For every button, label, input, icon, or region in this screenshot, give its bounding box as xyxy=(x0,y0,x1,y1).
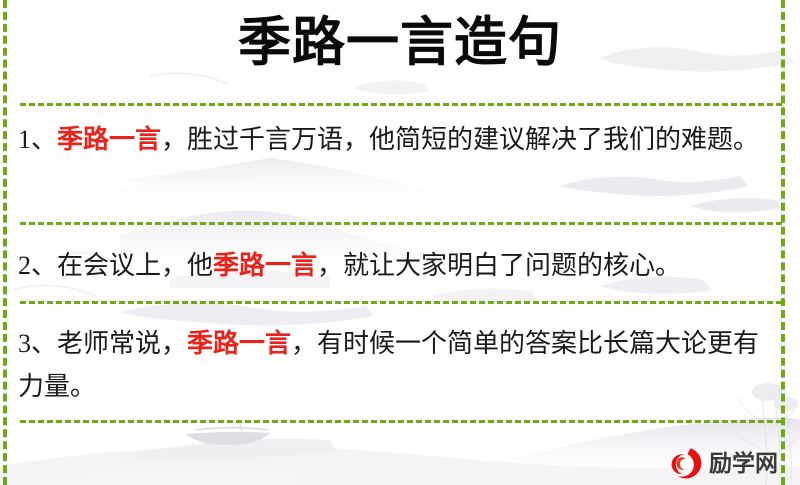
sentence-1-highlight: 季路一言 xyxy=(57,125,161,154)
divider-1 xyxy=(20,103,782,106)
mountain-mid-left xyxy=(100,158,452,206)
sentence-2-after: ，就让大家明白了问题的核心。 xyxy=(317,251,681,280)
divider-4 xyxy=(20,420,782,423)
slide-page: 季路一言造句 1、季路一言，胜过千言万语，他简短的建议解决了我们的难题。 2、在… xyxy=(0,0,800,485)
frame-border-left xyxy=(3,0,7,485)
sentence-1-after: ，胜过千言万语，他简短的建议解决了我们的难题。 xyxy=(161,125,759,154)
divider-3 xyxy=(20,301,782,304)
red-swirl-flame-icon xyxy=(668,445,704,481)
page-title: 季路一言造句 xyxy=(0,12,800,74)
sentence-2-index: 2、 xyxy=(18,251,57,280)
example-sentence-3: 3、老师常说，季路一言，有时候一个简单的答案比长篇大论更有力量。 xyxy=(18,322,770,408)
sentence-3-highlight: 季路一言 xyxy=(187,329,291,358)
sentence-3-before: 老师常说， xyxy=(57,329,187,358)
sentence-1-index: 1、 xyxy=(18,125,57,154)
divider-2 xyxy=(20,222,782,225)
frame-border-right xyxy=(781,0,785,485)
example-sentence-2: 2、在会议上，他季路一言，就让大家明白了问题的核心。 xyxy=(18,244,770,287)
site-watermark-logo[interactable]: 励学网 xyxy=(668,444,792,482)
sentence-2-before: 在会议上，他 xyxy=(57,251,213,280)
sentence-2-highlight: 季路一言 xyxy=(213,251,317,280)
example-sentence-1: 1、季路一言，胜过千言万语，他简短的建议解决了我们的难题。 xyxy=(18,118,770,161)
site-watermark-label: 励学网 xyxy=(709,452,778,475)
sentence-3-index: 3、 xyxy=(18,329,57,358)
